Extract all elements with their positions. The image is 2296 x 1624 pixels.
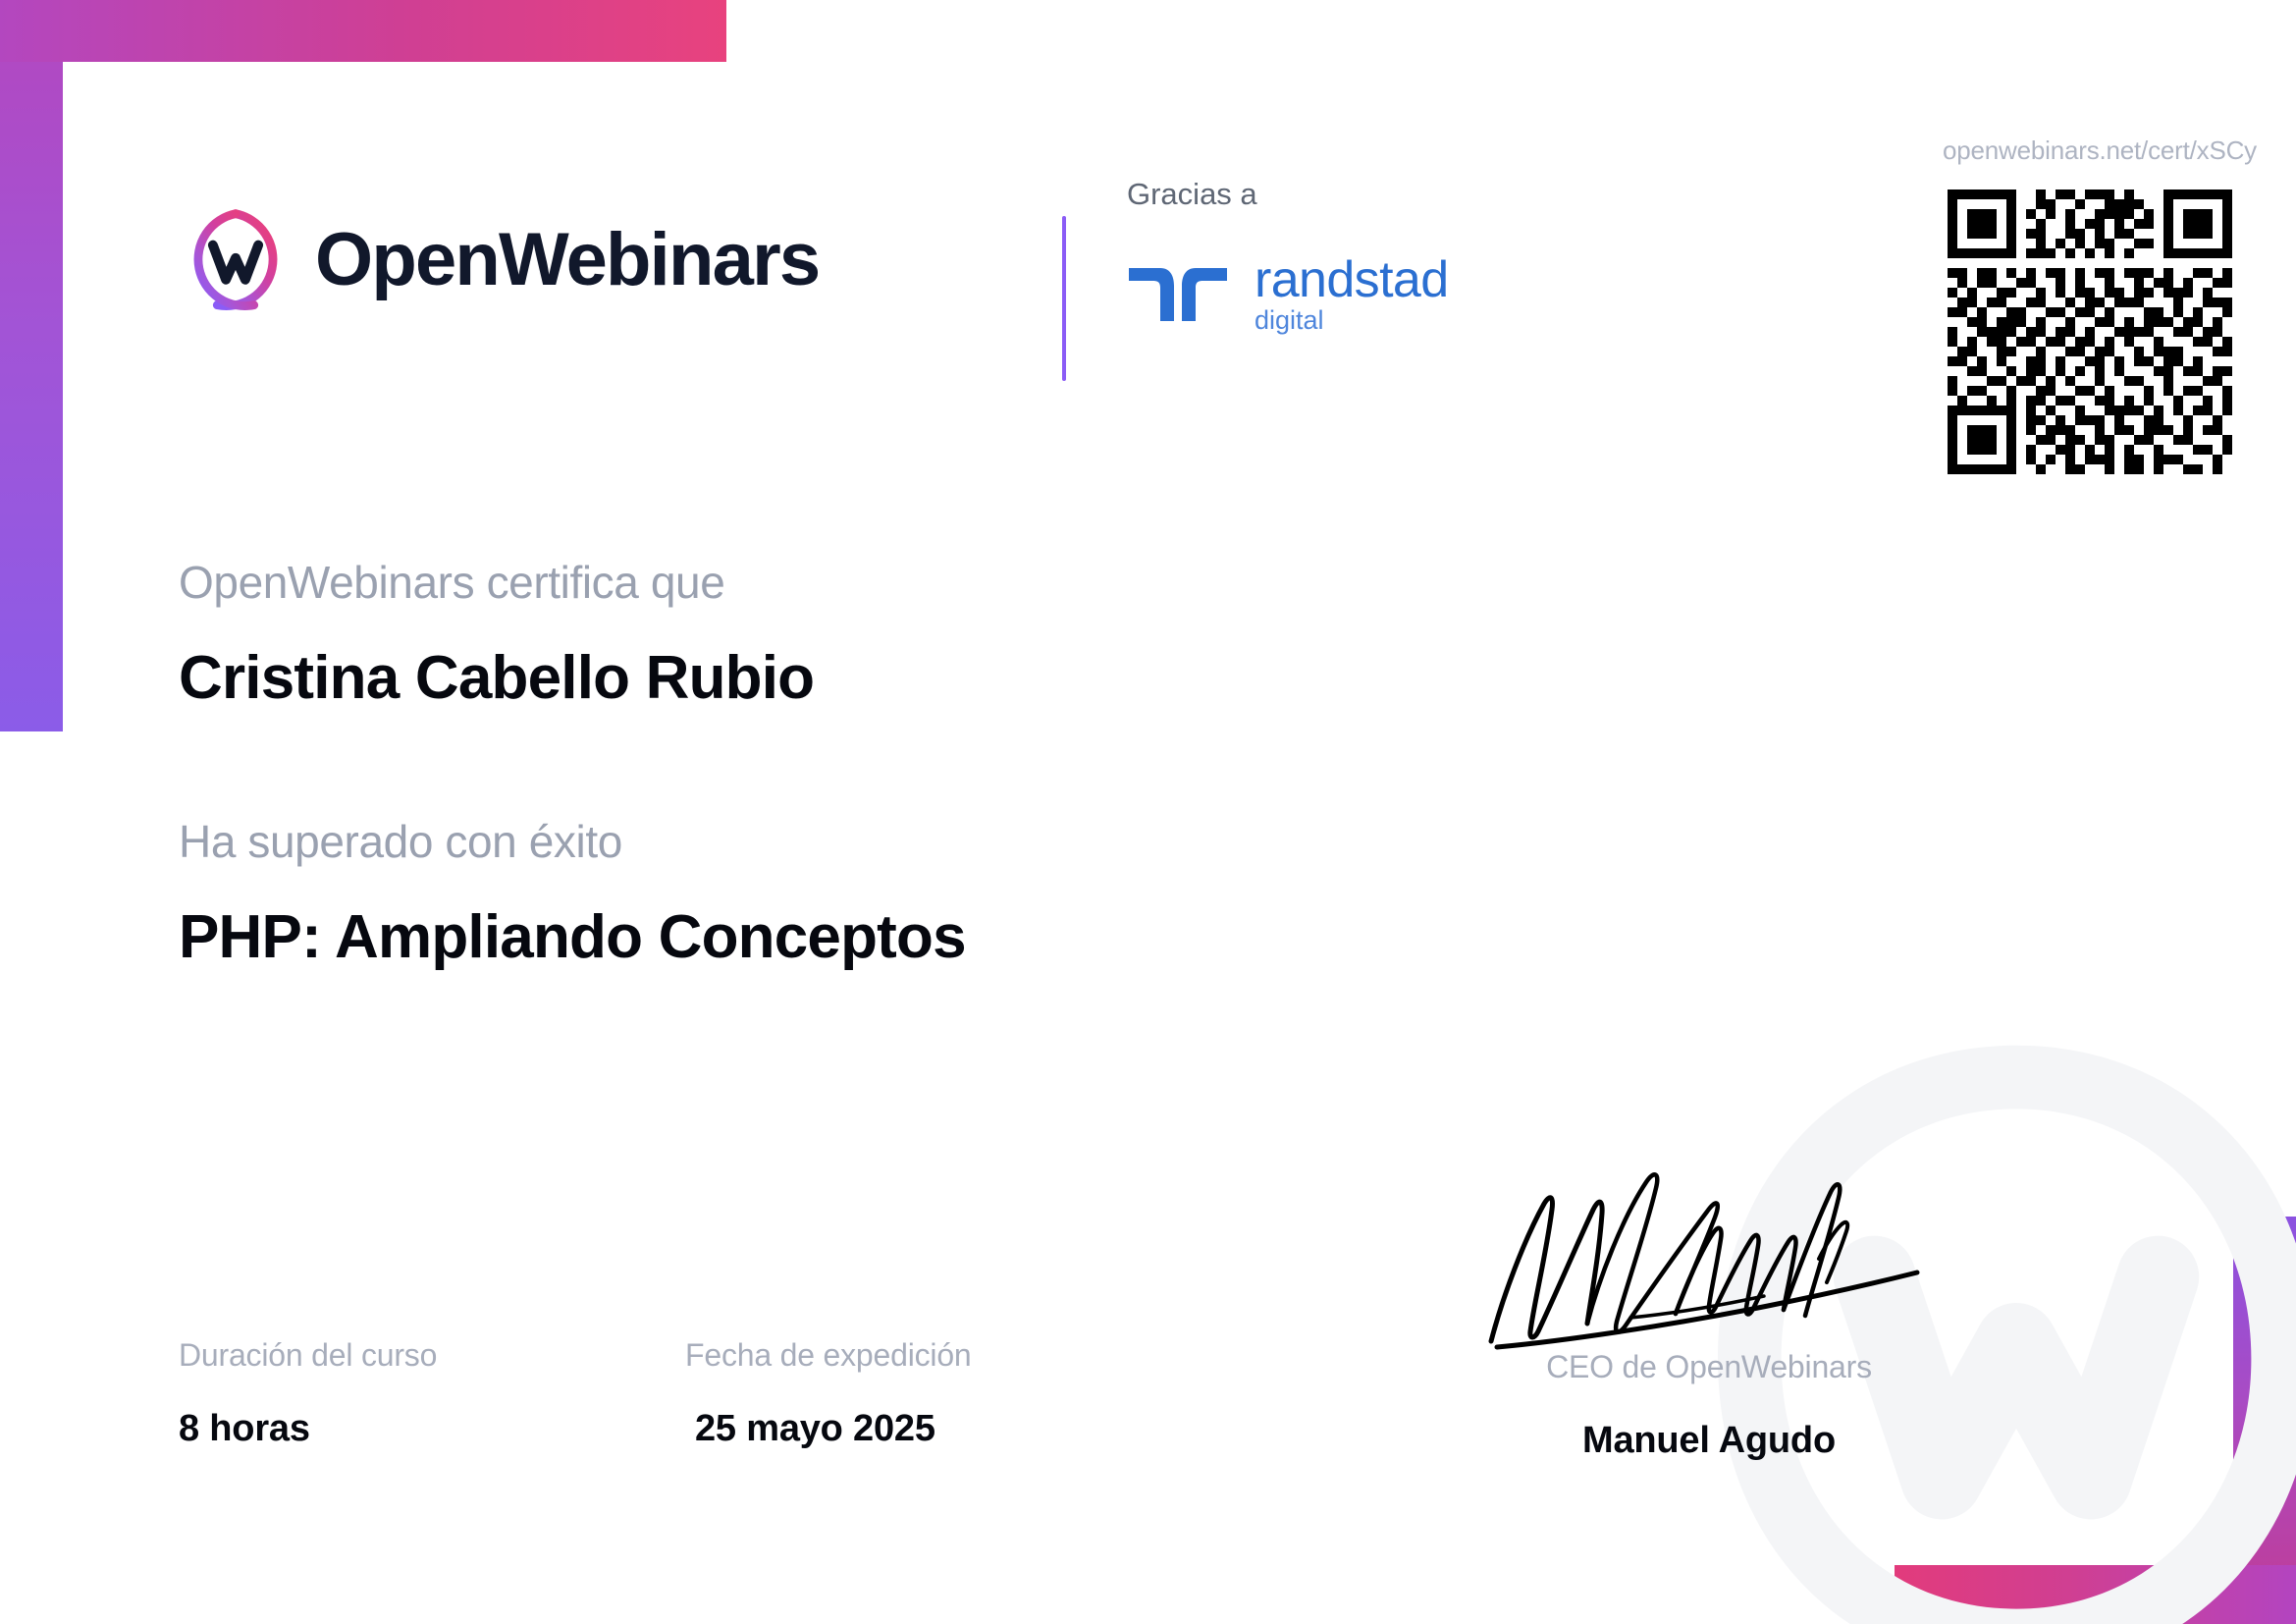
openwebinars-wordmark: OpenWebinars — [315, 223, 819, 298]
randstad-sub: digital — [1255, 307, 1449, 334]
duration-field: Duración del curso 8 horas — [179, 1339, 685, 1447]
issued-field: Fecha de expedición 25 mayo 2025 — [685, 1339, 1192, 1447]
signature-name: Manuel Agudo — [1434, 1422, 1984, 1459]
sponsor-label: Gracias a — [1127, 179, 1449, 209]
certificate-canvas: OpenWebinars Gracias a randstad digital … — [0, 0, 2296, 1624]
header-divider — [1062, 216, 1066, 381]
completion-label: Ha superado con éxito — [179, 819, 966, 864]
duration-value: 8 horas — [179, 1410, 685, 1447]
randstad-lockup: randstad digital — [1127, 254, 1449, 334]
certifies-label: OpenWebinars certifica que — [179, 560, 966, 605]
signature-block: CEO de OpenWebinars Manuel Agudo — [1434, 1149, 1984, 1459]
recipient-name: Cristina Cabello Rubio — [179, 648, 966, 709]
body-spacer — [179, 709, 966, 819]
openwebinars-logo-icon — [182, 206, 290, 314]
corner-accent-bottom-right-vertical — [2233, 1217, 2296, 1624]
verification-block: openwebinars.net/cert/xSCy — [1943, 135, 2237, 474]
sponsor-block: Gracias a randstad digital — [1127, 179, 1449, 334]
signature-role: CEO de OpenWebinars — [1434, 1351, 1984, 1382]
corner-accent-bottom-right-horizontal — [1895, 1565, 2296, 1624]
openwebinars-brand-lockup: OpenWebinars — [182, 206, 819, 314]
handwritten-signature-icon — [1473, 1149, 1945, 1355]
qr-code-icon[interactable] — [1948, 189, 2232, 474]
duration-label: Duración del curso — [179, 1339, 685, 1371]
certificate-meta: Duración del curso 8 horas Fecha de expe… — [179, 1339, 1192, 1447]
course-title: PHP: Ampliando Conceptos — [179, 907, 966, 968]
randstad-name: randstad — [1255, 254, 1449, 305]
issued-value: 25 mayo 2025 — [695, 1410, 1192, 1447]
corner-accent-top-left-horizontal — [0, 0, 726, 62]
corner-accent-top-left-vertical — [0, 0, 63, 731]
randstad-wordmark: randstad digital — [1255, 254, 1449, 334]
certificate-body: OpenWebinars certifica que Cristina Cabe… — [179, 560, 966, 968]
randstad-logo-icon — [1127, 264, 1229, 325]
issued-label: Fecha de expedición — [685, 1339, 1192, 1371]
verification-url: openwebinars.net/cert/xSCy — [1943, 135, 2237, 166]
